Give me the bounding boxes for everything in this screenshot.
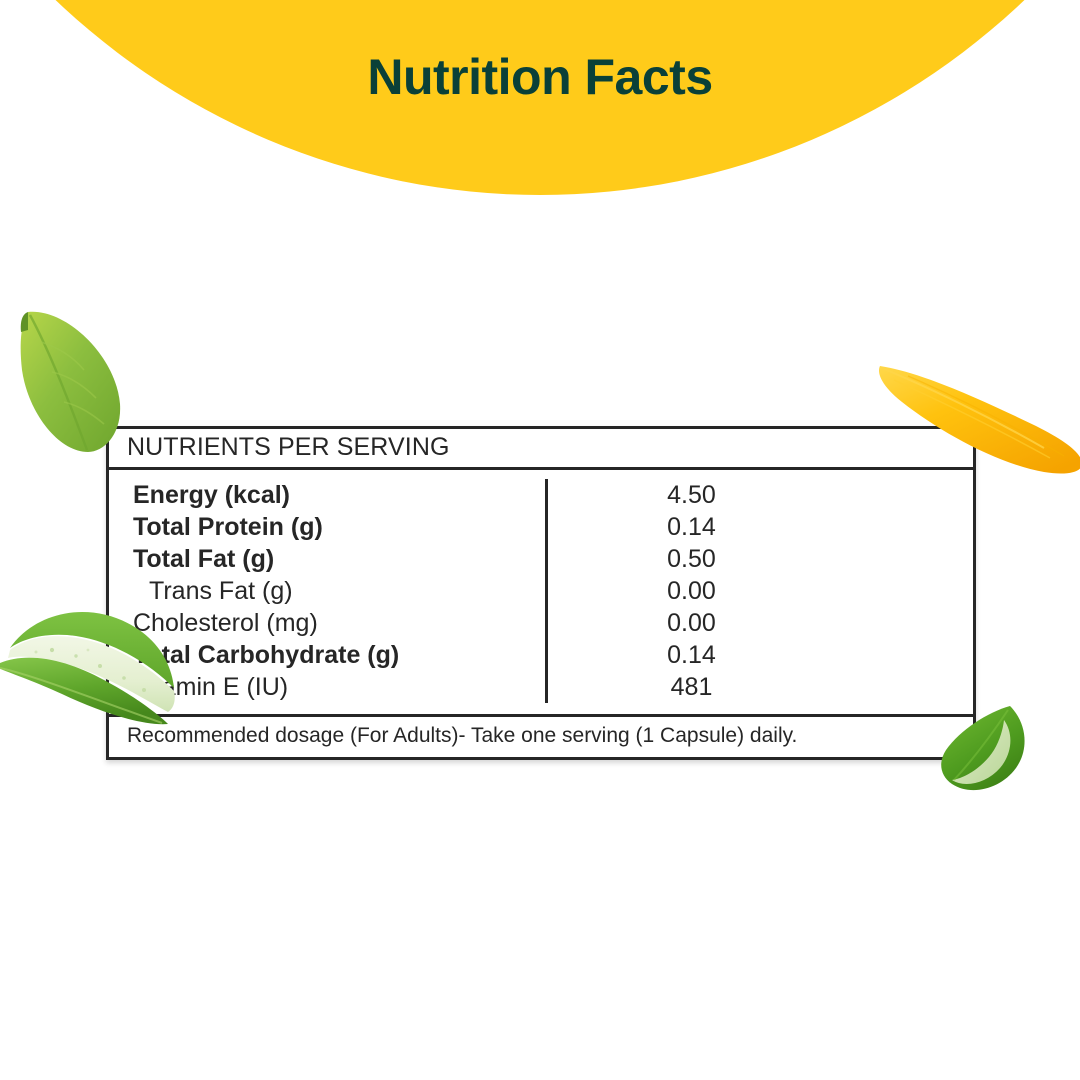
nutrient-rows: Energy (kcal) 4.50 Total Protein (g) 0.1… [109, 479, 973, 703]
nutrient-name: Trans Fat (g) [109, 575, 548, 607]
table-row: Total Carbohydrate (g) 0.14 [109, 639, 973, 671]
page-title: Nutrition Facts [0, 48, 1080, 106]
nutrient-rows-section: Energy (kcal) 4.50 Total Protein (g) 0.1… [109, 470, 973, 717]
nutrient-value: 0.14 [548, 511, 973, 543]
table-row: Total Fat (g) 0.50 [109, 543, 973, 575]
table-row: Cholesterol (mg) 0.00 [109, 607, 973, 639]
nutrition-facts-graphic: Nutrition Facts NUTRIENTS PER SERVING En… [0, 0, 1080, 1080]
nutrient-value: 481 [548, 671, 973, 703]
table-row: Vitamin E (IU) 481 [109, 671, 973, 703]
table-header: NUTRIENTS PER SERVING [109, 429, 973, 470]
nutrient-value: 4.50 [548, 479, 973, 511]
nutrient-value: 0.14 [548, 639, 973, 671]
nutrient-name: Total Protein (g) [109, 511, 548, 543]
nutrition-table-container: NUTRIENTS PER SERVING Energy (kcal) 4.50… [106, 426, 976, 760]
dosage-note: Recommended dosage (For Adults)- Take on… [109, 717, 973, 757]
nutrient-name: Vitamin E (IU) [109, 671, 548, 703]
table-row: Trans Fat (g) 0.00 [109, 575, 973, 607]
nutrient-name: Total Carbohydrate (g) [109, 639, 548, 671]
nutrient-name: Cholesterol (mg) [109, 607, 548, 639]
nutrition-facts-table: NUTRIENTS PER SERVING Energy (kcal) 4.50… [106, 426, 976, 760]
nutrient-name: Total Fat (g) [109, 543, 548, 575]
nutrient-value: 0.00 [548, 575, 973, 607]
table-row: Total Protein (g) 0.14 [109, 511, 973, 543]
table-row: Energy (kcal) 4.50 [109, 479, 973, 511]
nutrient-value: 0.50 [548, 543, 973, 575]
nutrient-name: Energy (kcal) [109, 479, 548, 511]
nutrient-value: 0.00 [548, 607, 973, 639]
